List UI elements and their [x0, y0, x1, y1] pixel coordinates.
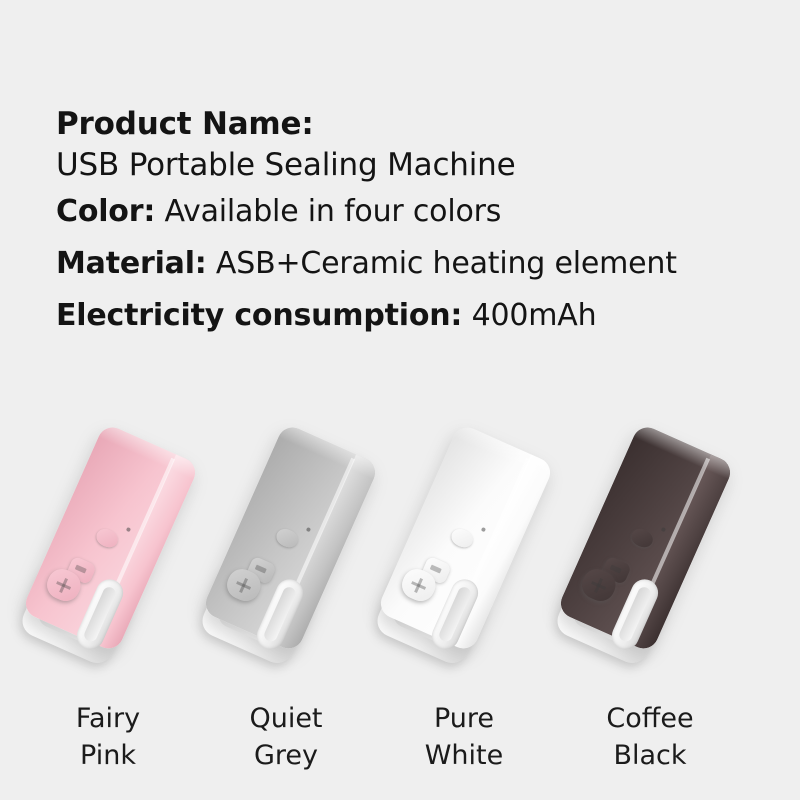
caption-line-2: Pink [8, 737, 208, 774]
color-value: Available in four colors [155, 194, 501, 229]
product-name-value: USB Portable Sealing Machine [56, 147, 515, 183]
sealing-machine-device [367, 423, 555, 674]
product-variant-row [0, 412, 800, 712]
sealing-machine-device [547, 423, 735, 674]
product-name-label: Product Name: [56, 106, 314, 142]
caption-line-1: Pure [364, 700, 564, 737]
material-label: Material: [56, 246, 207, 281]
mode-button-glyph-icon [610, 565, 622, 574]
caption-pure-white: Pure White [364, 700, 564, 774]
caption-line-1: Quiet [186, 700, 386, 737]
spec-line-product-name-value: USB Portable Sealing Machine [56, 144, 776, 186]
specification-block: Product Name: USB Portable Sealing Machi… [56, 104, 776, 342]
electricity-label: Electricity consumption: [56, 298, 462, 333]
spec-line-color: Color: Available in four colors [56, 186, 776, 238]
mode-button-glyph-icon [255, 565, 267, 574]
product-variant-fairy-pink[interactable] [20, 412, 220, 712]
product-variant-coffee-black[interactable] [555, 412, 755, 712]
product-variant-pure-white[interactable] [375, 412, 575, 712]
sealing-machine-device [192, 423, 380, 674]
caption-fairy-pink: Fairy Pink [8, 700, 208, 774]
caption-quiet-grey: Quiet Grey [186, 700, 386, 774]
caption-line-2: Grey [186, 737, 386, 774]
material-value: ASB+Ceramic heating element [207, 246, 677, 281]
electricity-value: 400mAh [462, 298, 596, 333]
product-variant-quiet-grey[interactable] [200, 412, 400, 712]
mode-button-glyph-icon [75, 565, 87, 574]
color-label: Color: [56, 194, 155, 229]
spec-line-product-name: Product Name: [56, 104, 776, 144]
caption-coffee-black: Coffee Black [550, 700, 750, 774]
caption-line-2: Black [550, 737, 750, 774]
spec-line-electricity: Electricity consumption: 400mAh [56, 290, 776, 342]
spec-line-material: Material: ASB+Ceramic heating element [56, 238, 776, 290]
caption-line-1: Fairy [8, 700, 208, 737]
caption-line-2: White [364, 737, 564, 774]
mode-button-glyph-icon [430, 565, 442, 574]
sealing-machine-device [12, 423, 200, 674]
caption-line-1: Coffee [550, 700, 750, 737]
